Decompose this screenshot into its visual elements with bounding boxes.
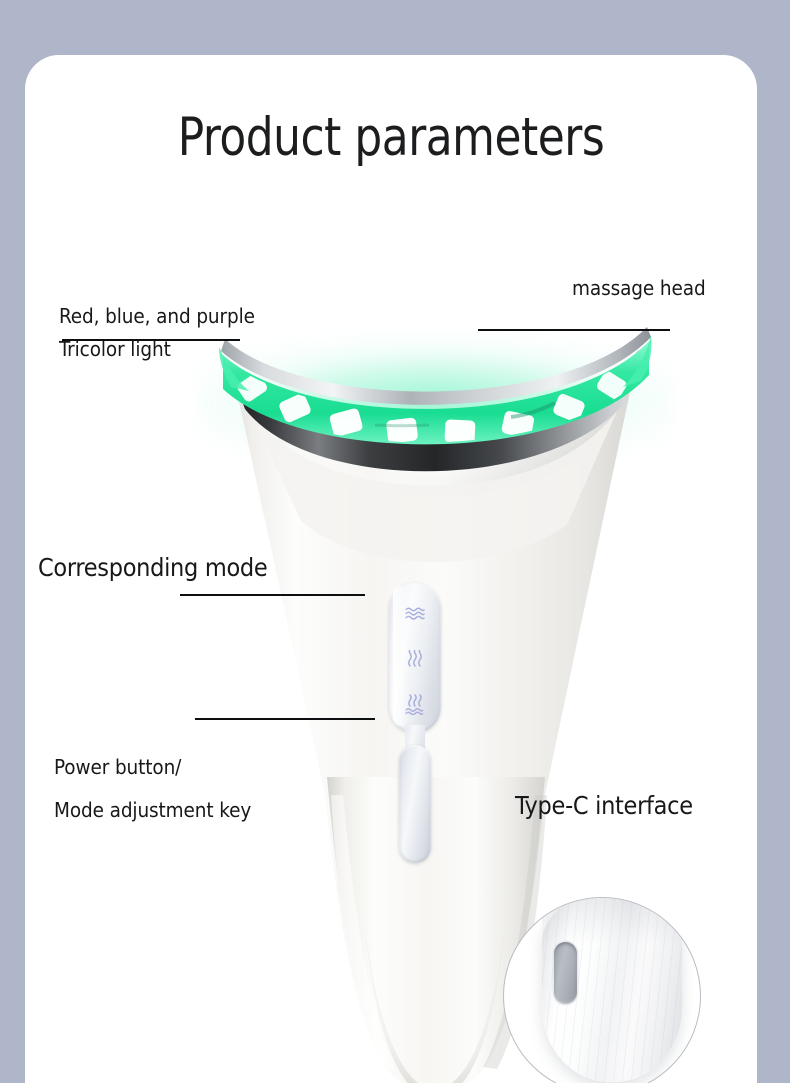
callout-power-button-line2: Mode adjustment key bbox=[54, 790, 251, 830]
power-button-key[interactable] bbox=[399, 745, 431, 863]
heat-plus-vibration-icon bbox=[389, 693, 441, 715]
callout-tricolor-line2: Tricolor light bbox=[59, 329, 171, 369]
leader-line-tricolor bbox=[62, 339, 240, 341]
page-title: Product parameters bbox=[54, 110, 727, 166]
content-card: Product parameters bbox=[25, 55, 757, 1083]
callout-corresponding-mode: Corresponding mode bbox=[38, 548, 267, 588]
type-c-inset-clip bbox=[504, 898, 700, 1083]
leader-line-massage-head bbox=[478, 329, 670, 331]
leader-line-corresponding-mode bbox=[180, 594, 365, 596]
mode-panel[interactable] bbox=[389, 583, 441, 733]
leader-line-power-button bbox=[195, 718, 375, 720]
callout-massage-head: massage head bbox=[572, 268, 706, 308]
heat-wave-icon bbox=[389, 648, 441, 668]
infographic-page: Product parameters bbox=[0, 0, 790, 1083]
type-c-inset-photo bbox=[503, 897, 701, 1083]
callout-power-button-line1: Power button/ bbox=[54, 747, 181, 787]
callout-type-c-interface: Type-C interface bbox=[515, 786, 693, 826]
vibration-wave-icon bbox=[389, 605, 441, 621]
type-c-port-icon bbox=[554, 942, 577, 1004]
